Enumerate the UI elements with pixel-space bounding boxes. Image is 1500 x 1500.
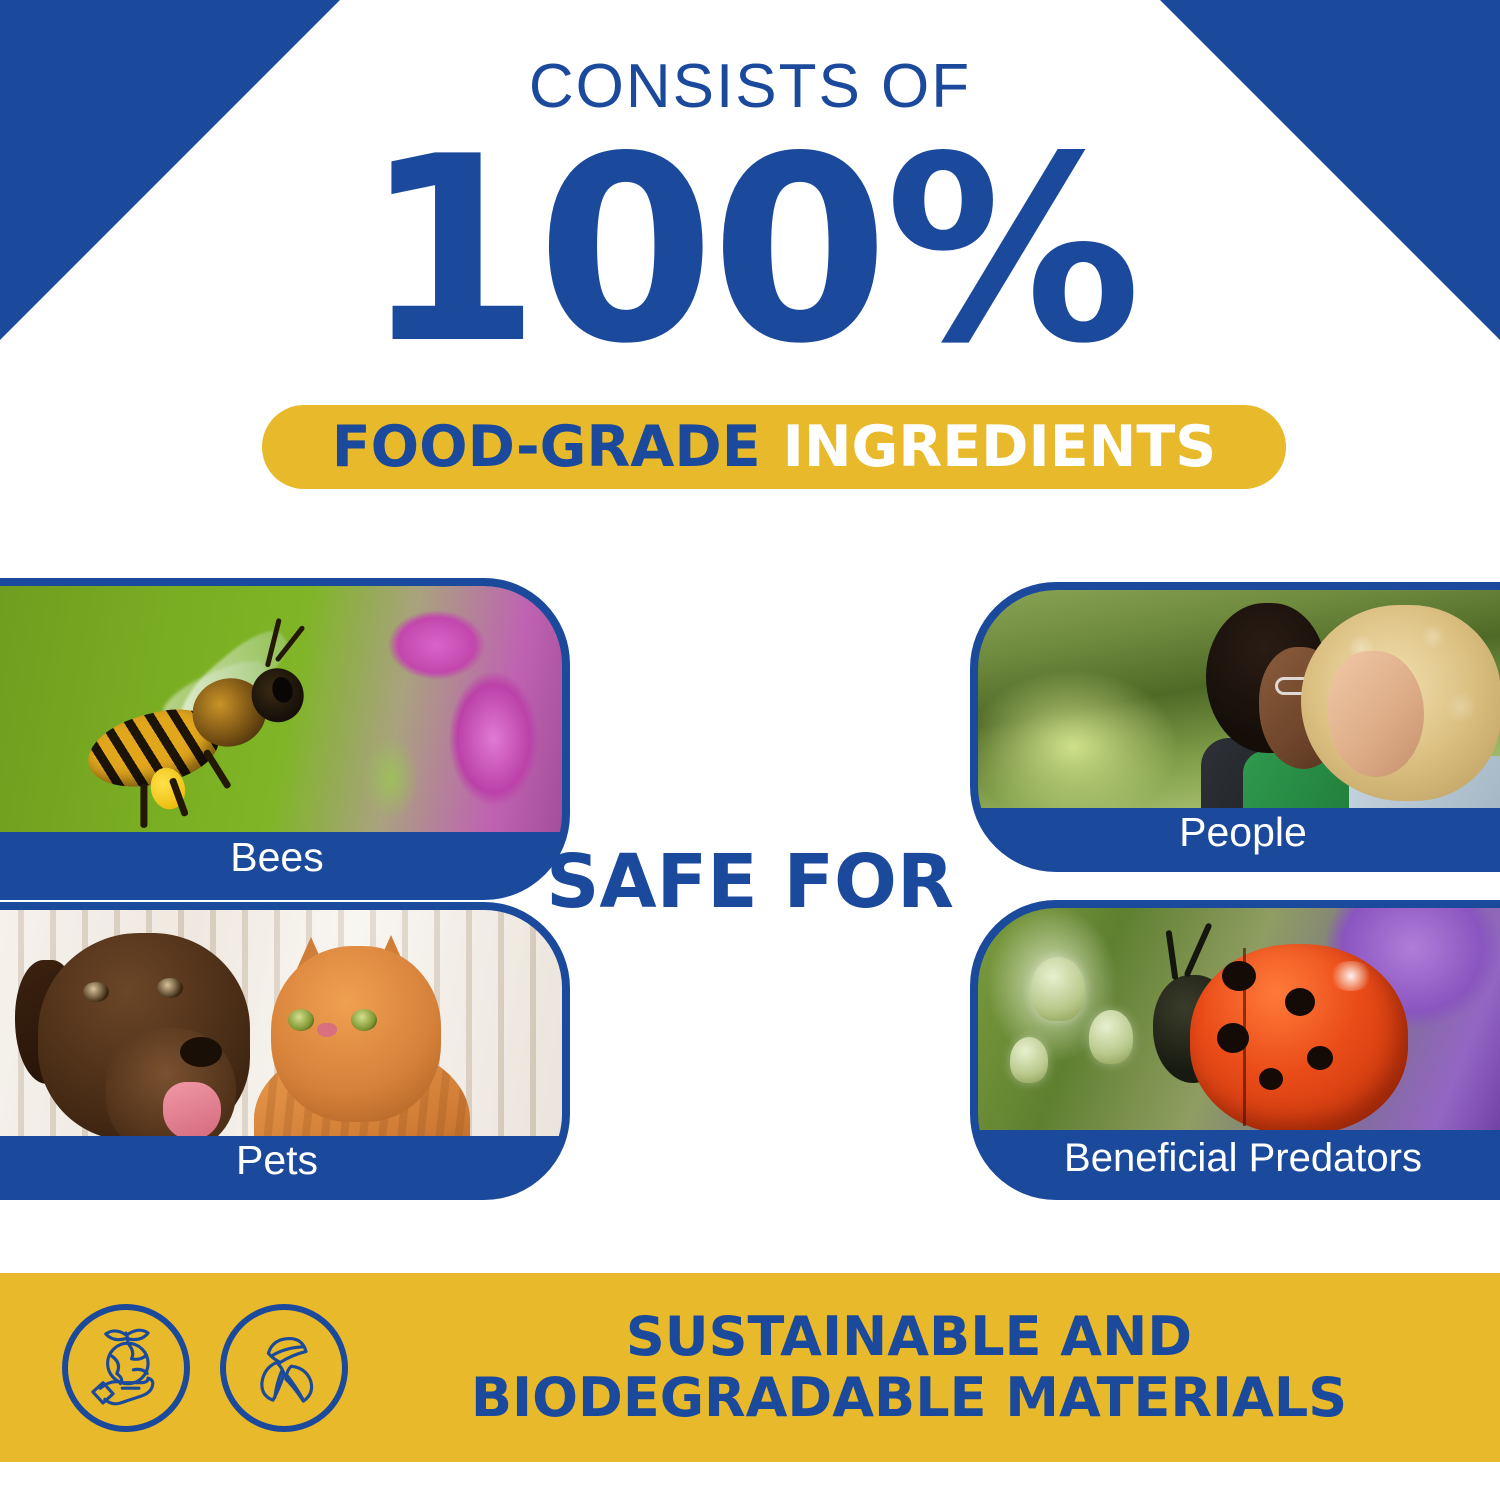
food-grade-badge: FOOD-GRADE INGREDIENTS — [262, 405, 1286, 489]
ladybug-spot-4 — [1307, 1046, 1333, 1070]
dog-nose — [180, 1037, 222, 1067]
headline-block: CONSISTS OF 100% — [0, 0, 1500, 366]
safe-for-label: SAFE FOR — [0, 845, 1500, 919]
plant-bud-1 — [1031, 957, 1085, 1021]
pets-photo — [0, 910, 562, 1136]
plant-bud-3 — [1010, 1037, 1048, 1083]
banner-line-1: SUSTAINABLE AND — [626, 1305, 1192, 1368]
card-label-predators: Beneficial Predators — [978, 1124, 1500, 1192]
safe-for-card-predators: Beneficial Predators — [970, 900, 1500, 1200]
card-label-pets: Pets — [0, 1128, 562, 1192]
ladybug-spot-1 — [1222, 961, 1256, 991]
hand-holding-earth-sprout-icon — [62, 1304, 190, 1432]
safe-for-card-people: People — [970, 582, 1500, 872]
badge-text-secondary: INGREDIENTS — [783, 419, 1217, 476]
recycling-leaves-icon — [220, 1304, 348, 1432]
banner-line-2: BIODEGRADABLE MATERIALS — [348, 1368, 1470, 1428]
bee-leg-1 — [141, 784, 148, 828]
predators-photo — [978, 908, 1500, 1130]
safe-for-card-pets: Pets — [0, 902, 570, 1200]
cat-nose — [317, 1023, 337, 1037]
people-photo — [978, 590, 1500, 808]
ladybug-highlight — [1328, 961, 1374, 991]
banner-icon-group — [62, 1304, 348, 1432]
ladybug-spot-5 — [1259, 1068, 1283, 1090]
badge-text-primary: FOOD-GRADE — [332, 419, 761, 476]
bee-leg-3 — [203, 748, 232, 789]
bee-illustration — [73, 641, 343, 810]
cat-head — [271, 946, 441, 1122]
headline-percentage: 100% — [0, 136, 1500, 366]
person-two-face — [1328, 651, 1424, 777]
bees-photo — [0, 586, 562, 832]
banner-heading: SUSTAINABLE AND BIODEGRADABLE MATERIALS — [348, 1307, 1500, 1428]
sustainability-banner: SUSTAINABLE AND BIODEGRADABLE MATERIALS — [0, 1273, 1500, 1462]
dog-eye-right — [157, 978, 183, 998]
ladybug-antenna-1 — [1184, 923, 1213, 978]
ladybug-antenna-2 — [1165, 930, 1178, 980]
ladybug-spot-3 — [1217, 1023, 1249, 1053]
plant-bud-2 — [1089, 1010, 1133, 1064]
